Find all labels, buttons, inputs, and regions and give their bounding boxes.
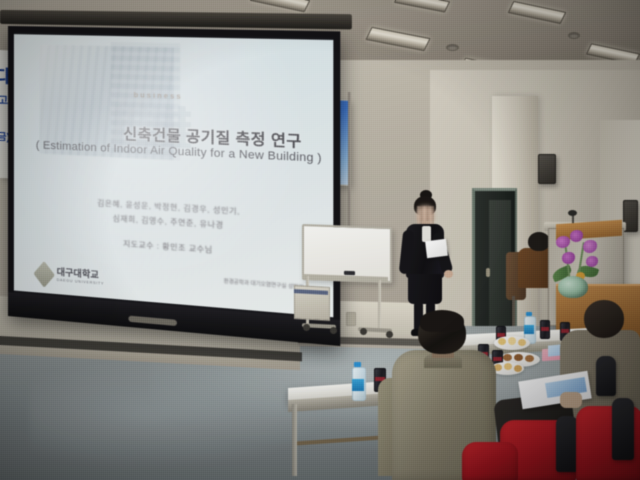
presenter-hand-right xyxy=(444,270,453,278)
seated-host-head xyxy=(528,232,550,251)
projection-screen: business 신축건물 공기질 측정 연구 ( Estimation of … xyxy=(8,26,340,346)
logo-mark-icon xyxy=(33,261,55,288)
ceiling-light-fixture xyxy=(508,1,567,24)
ceiling-light-fixture xyxy=(365,27,430,51)
whiteboard-caster xyxy=(303,324,310,331)
presenter-shirt xyxy=(422,226,431,242)
beverage-can[interactable] xyxy=(540,320,550,339)
snack-item xyxy=(504,363,512,370)
whiteboard-caster xyxy=(330,327,337,334)
ceiling-light-fixture xyxy=(250,0,311,12)
presentation-slide: business 신축건물 공기질 측정 연구 ( Estimation of … xyxy=(14,34,333,317)
snack-item xyxy=(525,355,534,362)
bottle-label xyxy=(352,379,364,391)
presenter-skirt xyxy=(408,274,442,304)
snack-item xyxy=(514,365,522,372)
microphone-head-icon xyxy=(568,210,577,216)
snack-item xyxy=(508,337,516,345)
banner-pole xyxy=(348,92,351,242)
audience-front-hair xyxy=(420,310,464,332)
whiteboard-caster xyxy=(360,328,367,335)
university-logo: 대구대학교 DAEGU UNIVERSITY xyxy=(36,265,104,288)
bottle-label xyxy=(524,325,534,334)
door-handle[interactable] xyxy=(486,268,490,277)
slide-footer-lab: 환경공학과 대기오염연구실 성민기 xyxy=(224,279,304,293)
can-stripe xyxy=(493,357,502,361)
screen-pull-handle[interactable] xyxy=(128,316,177,327)
slide-advisor: 지도교수 : 황민조 교수님 xyxy=(14,230,333,264)
snack-item xyxy=(514,354,523,361)
host-chair-leg xyxy=(512,296,515,326)
seat-armrest xyxy=(596,356,616,396)
snack-item xyxy=(498,338,506,345)
wall-speaker xyxy=(538,154,556,184)
flower-vase xyxy=(558,276,588,298)
floor-reflection xyxy=(30,360,330,470)
whiteboard-marker[interactable] xyxy=(344,271,355,275)
seat-armrest xyxy=(556,416,578,472)
ceiling-light-fixture xyxy=(394,0,450,13)
auditorium-seat[interactable] xyxy=(462,442,518,480)
front-table-leg xyxy=(292,404,297,476)
power-outlet[interactable] xyxy=(346,312,356,326)
audience-right-hand xyxy=(560,392,582,408)
ceiling-vent xyxy=(568,32,580,39)
snack-item xyxy=(518,339,526,346)
whiteboard-caster xyxy=(386,331,393,338)
snack-item xyxy=(503,354,512,361)
can-stripe xyxy=(541,327,549,331)
audience-right-head xyxy=(584,300,624,338)
ceiling-vent xyxy=(446,44,459,51)
photo-scene: 대 고 . (금) 발표회 표회 대구대학교 환경공학과 business 신축… xyxy=(0,0,640,480)
whiteboard-leg xyxy=(378,280,381,330)
presenter-script-papers xyxy=(425,239,448,258)
seat-armrest xyxy=(612,398,634,460)
